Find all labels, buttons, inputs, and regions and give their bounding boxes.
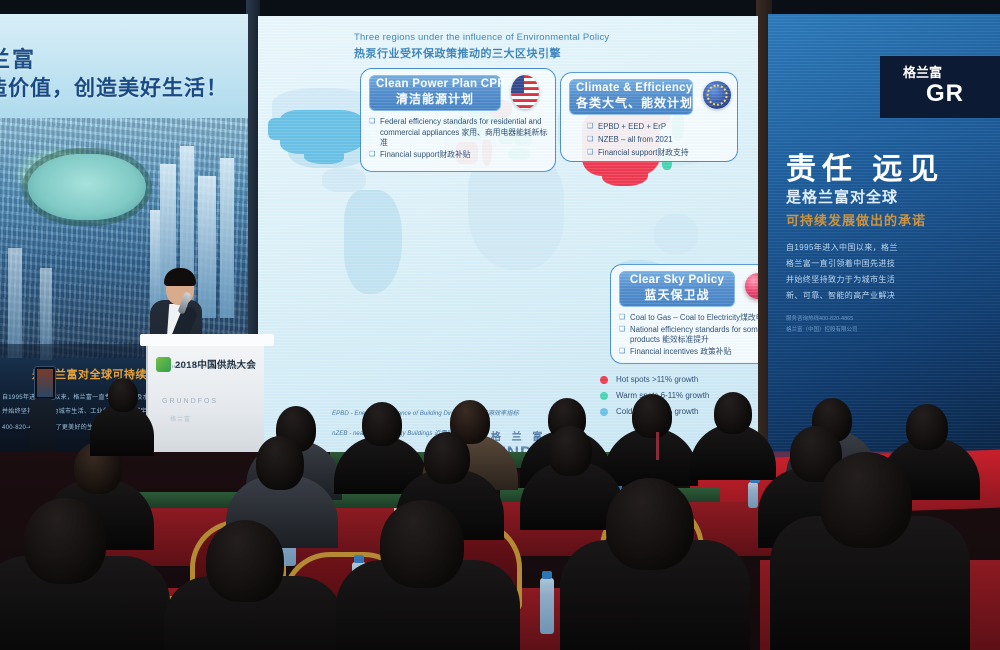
audience-head [606, 478, 694, 570]
banner-climate-efficiency: Climate & Efficiency 各类大气、能效计划实施 [569, 79, 693, 115]
banner-en-text: Clear Sky Policy [626, 274, 728, 286]
banner-cn-text: 蓝天保卫战 [626, 286, 728, 303]
banner-clean-power-plan: Clean Power Plan CPP 清洁能源计划 [369, 75, 501, 111]
bullet-item: National efficiency standards for some p… [619, 325, 758, 346]
banner-en-text: Clean Power Plan CPP [376, 78, 494, 90]
presentation-screen: Three regions under the influence of Env… [258, 16, 758, 454]
banner-clear-sky-policy: Clear Sky Policy 蓝天保卫战 [619, 271, 735, 307]
right-panel-body-2: 格兰富一直引领着中国先进技 [786, 258, 1000, 269]
legend-dot-hot [600, 376, 608, 384]
bullet-item: Financial support财政支持 [587, 147, 735, 159]
grundfos-logo-cn: 格兰富 [903, 62, 942, 81]
audience-head [256, 436, 304, 490]
right-panel-body-1: 自1995年进入中国以来，格兰 [786, 242, 1000, 253]
audience-lanyard [656, 432, 659, 460]
event-banner-en: CHINA HEATING CONVENTION [168, 364, 255, 369]
podium-top-surface [140, 334, 274, 346]
bullet-item: Federal efficiency standards for residen… [369, 117, 551, 149]
grundfos-logo-en: GR [926, 80, 964, 108]
right-panel-footer-1: 服务咨询热线400-820-4865 [786, 314, 1000, 322]
audience-head [548, 426, 592, 476]
slide-title-cn: 热泵行业受环保政策推动的三大区块引擎 [354, 45, 561, 61]
right-panel-footer-2: 格兰富（中国）控股有限公司 [786, 325, 1000, 333]
left-panel-park-shape [28, 154, 146, 220]
left-panel-cityscape-image [0, 118, 248, 358]
info-box-clear-sky-policy[interactable]: Clear Sky Policy 蓝天保卫战 Coal to Gas – Coa… [610, 264, 758, 364]
speaker-hair [164, 268, 196, 286]
podium-brand-cn: 格兰富 [170, 414, 191, 423]
audience-head [632, 394, 672, 438]
banner-cn-text: 各类大气、能效计划实施 [576, 94, 686, 111]
speaker-podium: 2018中国供热大会 CHINA HEATING CONVENTION GRUN… [146, 340, 264, 470]
us-flag-icon [511, 75, 539, 109]
right-brand-panel: 格兰富 GR 责任 远见 是格兰富对全球 可持续发展做出的承诺 自1995年进入… [768, 14, 1000, 470]
info-box-clean-power-plan[interactable]: Clean Power Plan CPP 清洁能源计划 Federal effi… [360, 68, 556, 172]
info-box-climate-efficiency[interactable]: Climate & Efficiency 各类大气、能效计划实施 EPBD + … [560, 72, 738, 162]
bullet-item: EPBD + EED + ErP [587, 121, 735, 133]
smartphone-recording [34, 366, 56, 400]
audience-head [820, 452, 912, 548]
left-panel-line1: 兰富 [0, 42, 36, 74]
conference-photo-scene: 兰富 造价值，创造美好生活！ 是格兰富对全球可持续性发展 自1995年进入中国以… [0, 0, 1000, 650]
legend-dot-warm [600, 392, 608, 400]
right-panel-highlight: 可持续发展做出的承诺 [786, 210, 926, 229]
right-panel-body-3: 并始终坚持致力于为城市生活 [786, 274, 1000, 285]
audience-head [424, 432, 470, 484]
podium-brand-en: GRUNDFOS [162, 398, 218, 405]
audience-head [380, 500, 464, 588]
banner-cn-text: 清洁能源计划 [376, 90, 494, 107]
water-bottle [540, 578, 554, 634]
right-panel-heading: 责任 远见 [786, 144, 944, 188]
audience-head [206, 520, 284, 602]
right-panel-subheading: 是格兰富对全球 [786, 186, 898, 207]
bullet-item: Financial incentives 政策补贴 [619, 347, 758, 358]
eu-flag-icon [703, 81, 731, 109]
audience-head [714, 392, 752, 434]
left-panel-line2: 造价值，创造美好生活！ [0, 72, 228, 102]
audience-head [362, 402, 402, 446]
bullet-list-clean-power-plan: Federal efficiency standards for residen… [369, 117, 551, 161]
bullet-item: NZEB – all from 2021 [587, 134, 735, 146]
footnote-epbd: EPBD - Energy Performance of Building Di… [332, 408, 519, 417]
bullet-list-climate-efficiency: EPBD + EED + ErP NZEB – all from 2021 Fi… [587, 121, 735, 160]
audience-head [24, 498, 106, 584]
bullet-item: Financial support财政补贴 [369, 150, 551, 161]
legend-label-hot: Hot spots >11% growth [616, 375, 698, 384]
legend-dot-cold [600, 408, 608, 416]
red-sphere-icon [745, 273, 758, 299]
bullet-list-clear-sky-policy: Coal to Gas – Coal to Electricity煤改电 Nat… [619, 313, 758, 358]
banner-en-text: Climate & Efficiency [576, 82, 686, 94]
bullet-item: Coal to Gas – Coal to Electricity煤改电 [619, 313, 758, 324]
legend-row-hot: Hot spots >11% growth [600, 372, 709, 388]
slide-title-en: Three regions under the influence of Env… [354, 32, 609, 43]
right-panel-body-4: 新、可靠、智能的高产业解决 [786, 290, 1000, 301]
audience-head [108, 378, 138, 412]
water-bottle [748, 482, 758, 508]
audience-head [906, 404, 948, 450]
